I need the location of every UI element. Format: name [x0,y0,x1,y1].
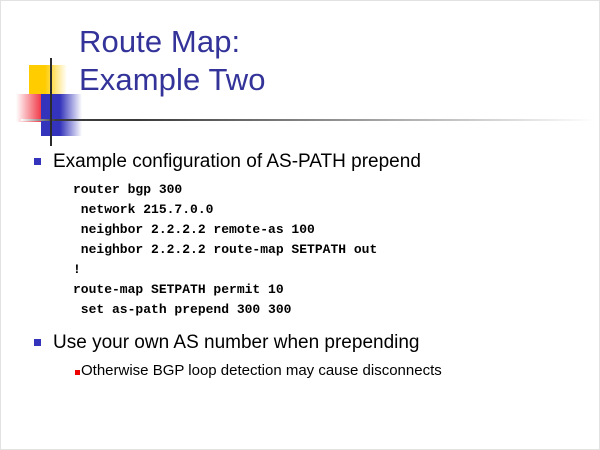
decoration-blue-square [41,94,82,136]
config-line: network 215.7.0.0 [73,200,600,220]
config-line: neighbor 2.2.2.2 route-map SETPATH out [73,240,600,260]
config-line: set as-path prepend 300 300 [73,300,600,320]
bullet-item-2: Use your own AS number when prepending [1,330,600,355]
bullet-label: Example configuration of AS-PATH prepend [53,149,421,174]
slide-title-line-1: Route Map: [79,23,579,61]
slide: Route Map: Example Two Example configura… [0,0,600,450]
sub-bullet-label: Otherwise BGP loop detection may cause d… [81,361,442,381]
config-line: router bgp 300 [73,180,600,200]
bullet-item-3: Otherwise BGP loop detection may cause d… [1,361,600,381]
config-line: ! [73,260,600,280]
config-line: route-map SETPATH permit 10 [73,280,600,300]
header-horizontal-rule [21,119,596,121]
bullet-label: Use your own AS number when prepending [53,330,420,355]
decoration-red-square [16,94,56,122]
sub-bullet-marker-icon [75,370,80,375]
config-listing: router bgp 300 network 215.7.0.0 neighbo… [1,180,600,320]
slide-title-line-2: Example Two [79,61,579,99]
slide-body: Example configuration of AS-PATH prepend… [1,149,600,381]
config-line: neighbor 2.2.2.2 remote-as 100 [73,220,600,240]
slide-title: Route Map: Example Two [79,23,579,99]
bullet-marker-icon [34,339,41,346]
header-vertical-rule [50,58,52,146]
bullet-item-1: Example configuration of AS-PATH prepend [1,149,600,174]
bullet-marker-icon [34,158,41,165]
decoration-yellow-square [29,65,67,96]
